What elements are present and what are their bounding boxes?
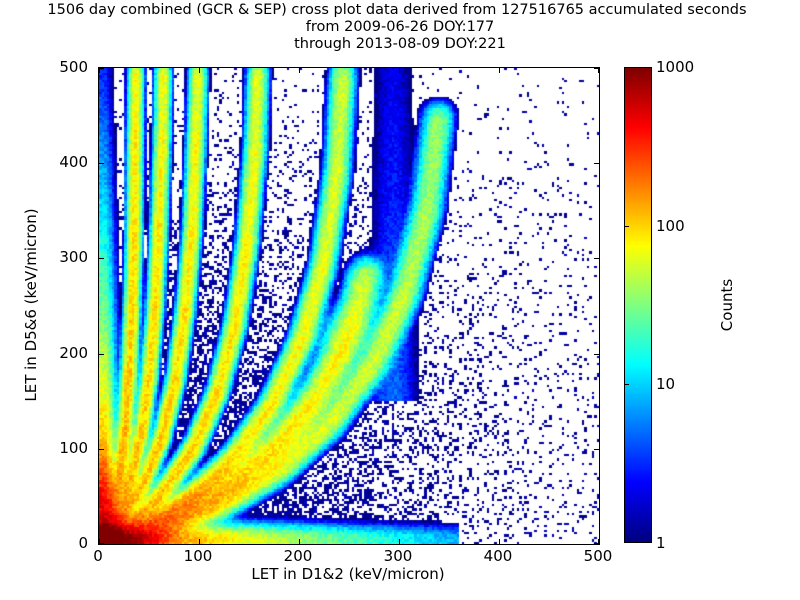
y-tick-mark (99, 258, 104, 259)
y-tick-label: 400 (59, 153, 88, 171)
colorbar-tick-label: 1000 (656, 58, 694, 76)
x-tick-label: 300 (384, 547, 413, 565)
y-tick-mark (99, 543, 104, 544)
x-tick-mark-top (199, 68, 200, 73)
x-tick-mark-top (299, 68, 300, 73)
colorbar-tick-label: 100 (656, 217, 685, 235)
colorbar-tick-label: 1 (656, 534, 666, 552)
y-tick-mark (99, 163, 104, 164)
x-tick-mark-top (499, 68, 500, 73)
colorbar-tick-label: 10 (656, 375, 675, 393)
plot-title-line-1: 1506 day combined (GCR & SEP) cross plot… (0, 2, 800, 19)
colorbar-frame (624, 67, 652, 543)
y-tick-label: 0 (78, 534, 88, 552)
y-tick-mark-right (594, 354, 599, 355)
y-tick-mark-right (594, 68, 599, 69)
y-tick-mark-right (594, 163, 599, 164)
x-tick-label: 500 (584, 547, 613, 565)
y-axis-label: LET in D5&6 (keV/micron) (22, 67, 40, 543)
y-tick-mark (99, 449, 104, 450)
y-tick-label: 100 (59, 439, 88, 457)
x-tick-label: 0 (93, 547, 103, 565)
plot-title-line-3: through 2013-08-09 DOY:221 (0, 36, 800, 53)
colorbar-label: Counts (718, 67, 736, 543)
x-tick-mark-top (399, 68, 400, 73)
plot-title-line-2: from 2009-06-26 DOY:177 (0, 19, 800, 36)
figure-canvas: 1506 day combined (GCR & SEP) cross plot… (0, 0, 800, 600)
x-tick-mark (199, 539, 200, 544)
density-heatmap (99, 68, 599, 544)
colorbar-tick-mark (624, 384, 629, 385)
colorbar (624, 67, 652, 543)
y-tick-label: 200 (59, 344, 88, 362)
x-tick-mark (499, 539, 500, 544)
x-tick-mark (299, 539, 300, 544)
y-tick-mark (99, 354, 104, 355)
y-tick-mark-right (594, 543, 599, 544)
plot-area (98, 67, 600, 545)
x-tick-mark (399, 539, 400, 544)
y-tick-mark-right (594, 449, 599, 450)
plot-title: 1506 day combined (GCR & SEP) cross plot… (0, 2, 800, 53)
y-tick-label: 300 (59, 248, 88, 266)
x-axis-label: LET in D1&2 (keV/micron) (98, 565, 598, 583)
x-tick-label: 400 (484, 547, 513, 565)
y-tick-mark-right (594, 258, 599, 259)
y-tick-label: 500 (59, 58, 88, 76)
x-tick-label: 200 (284, 547, 313, 565)
colorbar-tick-mark (624, 226, 629, 227)
y-tick-mark (99, 68, 104, 69)
x-tick-label: 100 (184, 547, 213, 565)
